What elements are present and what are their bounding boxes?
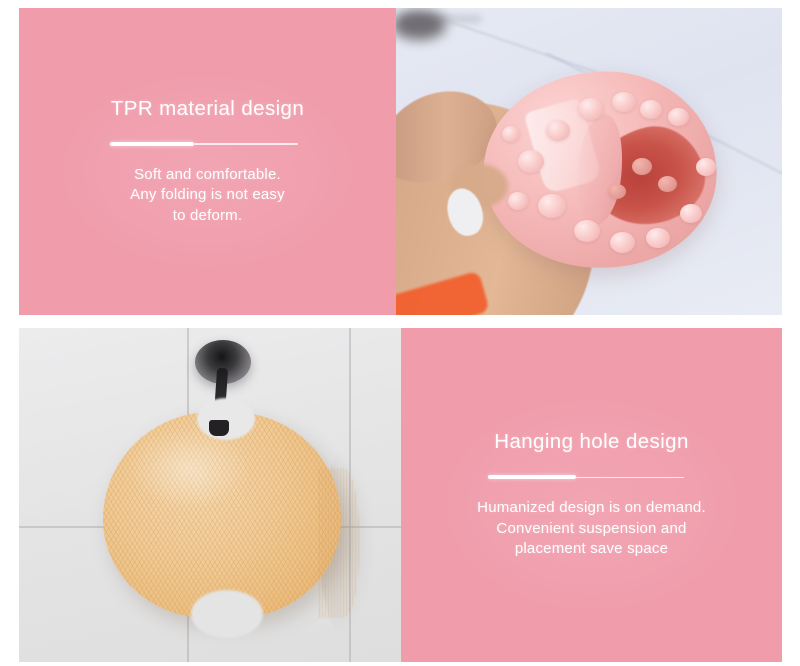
body-line: placement save space xyxy=(477,539,706,560)
feature-section-hanging-hole: Hanging hole design Humanized design is … xyxy=(19,328,782,662)
divider-thin-segment xyxy=(194,143,297,145)
brush-nub xyxy=(680,204,702,223)
brush-nub xyxy=(508,192,528,210)
brush-nub xyxy=(538,194,566,218)
brush-nub xyxy=(696,158,716,176)
title-divider xyxy=(110,140,298,148)
body-line: Any folding is not easy xyxy=(130,185,285,206)
divider-thick-segment xyxy=(488,475,576,479)
body-line: Soft and comfortable. xyxy=(130,165,285,186)
copy-panel-tpr-material: TPR material design Soft and comfortable… xyxy=(19,8,396,315)
scrubber-edge-fringe xyxy=(319,468,359,618)
section-title-hanging-hole: Hanging hole design xyxy=(494,430,689,454)
body-line: Humanized design is on demand. xyxy=(477,498,706,519)
product-feature-image: TPR material design Soft and comfortable… xyxy=(0,0,800,666)
brush-nub xyxy=(632,158,652,175)
scrubber-highlight xyxy=(129,428,249,508)
photo-hand-squeezing-pink-silicone-brush xyxy=(396,8,782,315)
divider-thin-segment xyxy=(576,477,684,479)
brush-nub xyxy=(574,220,600,242)
brush-nub xyxy=(658,176,677,192)
body-line: Convenient suspension and xyxy=(477,519,706,540)
brush-nub xyxy=(518,150,544,173)
body-line: to deform. xyxy=(130,206,285,227)
photo-apple-scrubber-hanging-on-wall xyxy=(19,328,401,662)
brush-nub xyxy=(668,108,689,126)
brush-nub xyxy=(640,100,662,119)
feature-section-tpr-material: TPR material design Soft and comfortable… xyxy=(19,8,782,315)
title-divider xyxy=(488,473,684,481)
brush-nub xyxy=(608,184,626,199)
section-body-tpr-material: Soft and comfortable. Any folding is not… xyxy=(130,165,285,227)
section-title-tpr-material: TPR material design xyxy=(111,97,304,121)
brush-nub xyxy=(502,126,520,142)
section-body-hanging-hole: Humanized design is on demand. Convenien… xyxy=(477,498,706,560)
brush-nub xyxy=(610,232,635,253)
background-blur-object xyxy=(396,10,446,40)
copy-panel-hanging-hole: Hanging hole design Humanized design is … xyxy=(401,328,782,662)
scrubber-bottom-notch xyxy=(191,590,263,638)
brush-nub xyxy=(546,120,570,141)
brush-nub xyxy=(646,228,670,248)
brush-nub xyxy=(578,98,604,120)
hook-tip xyxy=(209,420,229,436)
divider-thick-segment xyxy=(110,142,195,146)
brush-nub xyxy=(612,92,636,112)
